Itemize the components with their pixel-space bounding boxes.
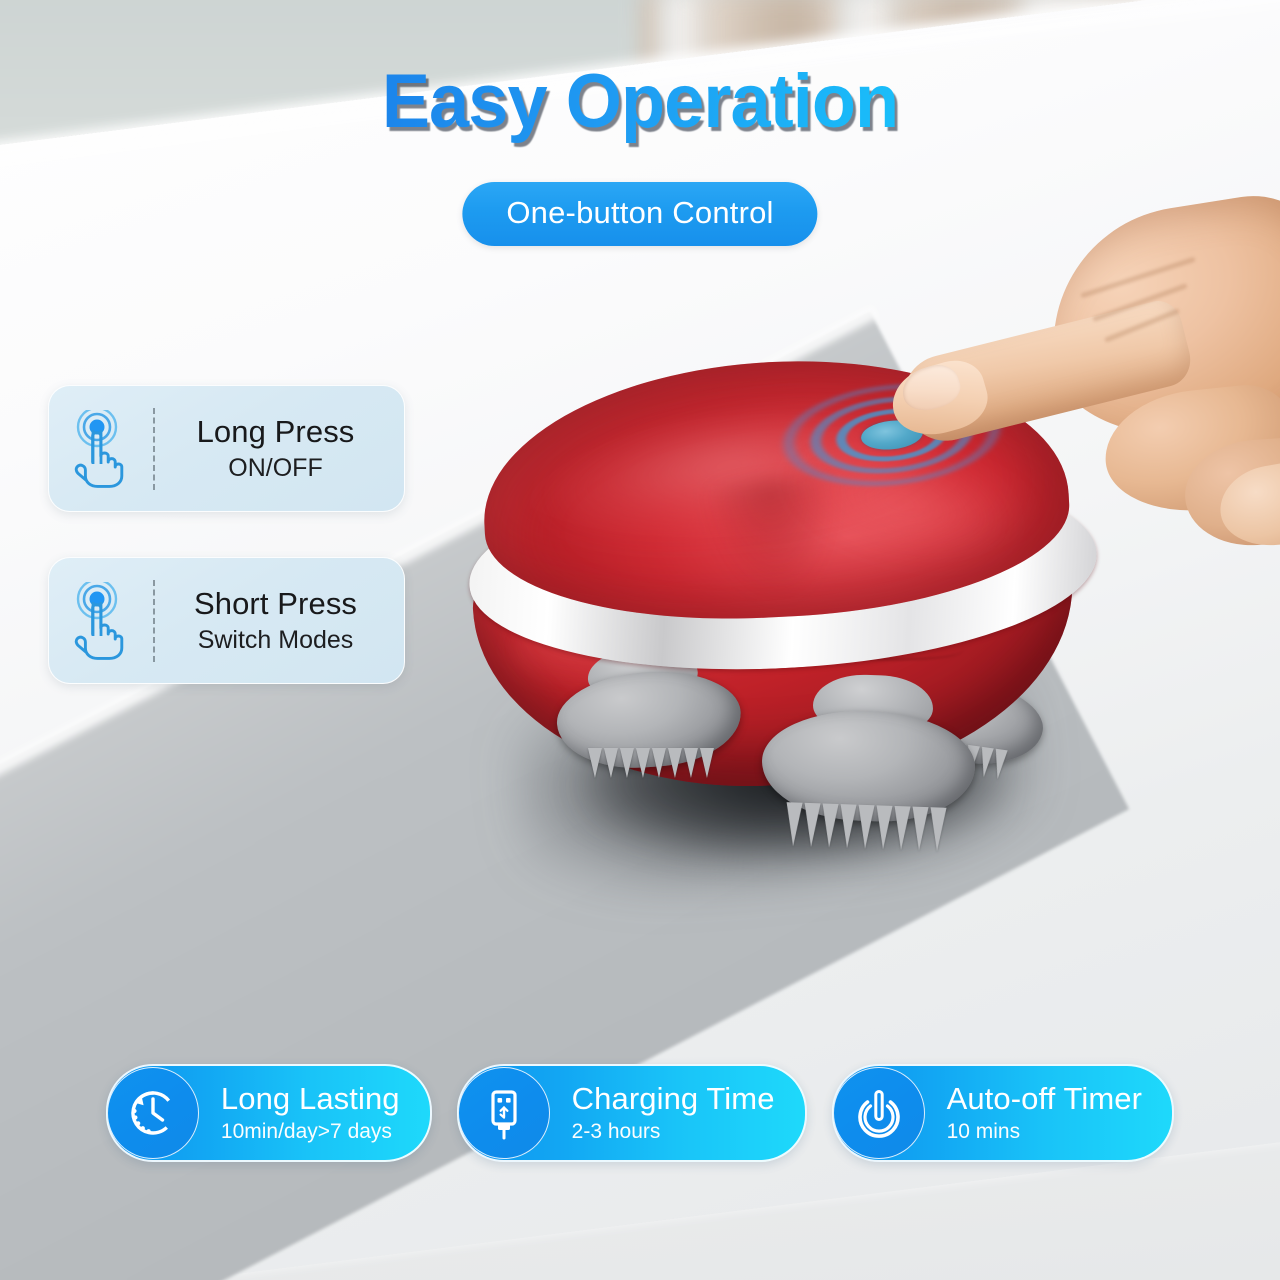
- hand-tap-icon: [49, 582, 153, 660]
- massage-node: [752, 701, 983, 884]
- power-icon: [833, 1067, 925, 1159]
- feature-badge-charging-time: Charging Time 2-3 hours: [457, 1064, 807, 1162]
- feature-badge-auto-off-timer: Auto-off Timer 10 mins: [832, 1064, 1175, 1162]
- badge-title: Long Lasting: [221, 1082, 400, 1115]
- clock-rotate-icon: [107, 1067, 199, 1159]
- feature-badge-row: Long Lasting 10min/day>7 days Charging: [0, 1064, 1280, 1162]
- page-title: Easy Operation: [32, 58, 1248, 145]
- feature-badge-long-lasting: Long Lasting 10min/day>7 days: [106, 1064, 432, 1162]
- hand-tap-icon: [49, 410, 153, 488]
- usb-plug-icon: [458, 1067, 550, 1159]
- badge-title: Auto-off Timer: [947, 1082, 1143, 1115]
- operation-card-subtitle: ON/OFF: [155, 455, 396, 481]
- pressing-hand: [900, 215, 1280, 525]
- product-feature-banner: Easy Operation One-button Control Long P…: [0, 0, 1280, 1280]
- operation-card-title: Short Press: [155, 588, 396, 621]
- operation-card-text: Short Press Switch Modes: [155, 588, 404, 653]
- badge-subtitle: 10 mins: [947, 1121, 1143, 1144]
- card-divider: [153, 580, 155, 662]
- operation-card-short-press: Short Press Switch Modes: [48, 557, 405, 684]
- badge-text: Charging Time 2-3 hours: [550, 1082, 775, 1143]
- badge-subtitle: 2-3 hours: [572, 1121, 775, 1144]
- badge-subtitle: 10min/day>7 days: [221, 1121, 400, 1144]
- operation-card-text: Long Press ON/OFF: [155, 416, 404, 481]
- badge-text: Long Lasting 10min/day>7 days: [199, 1082, 400, 1143]
- operation-card-subtitle: Switch Modes: [155, 627, 396, 653]
- card-divider: [153, 408, 155, 490]
- subtitle-pill: One-button Control: [462, 182, 817, 246]
- operation-card-title: Long Press: [155, 416, 396, 449]
- badge-text: Auto-off Timer 10 mins: [925, 1082, 1143, 1143]
- massage-node: [545, 653, 755, 817]
- operation-card-long-press: Long Press ON/OFF: [48, 385, 405, 512]
- badge-title: Charging Time: [572, 1082, 775, 1115]
